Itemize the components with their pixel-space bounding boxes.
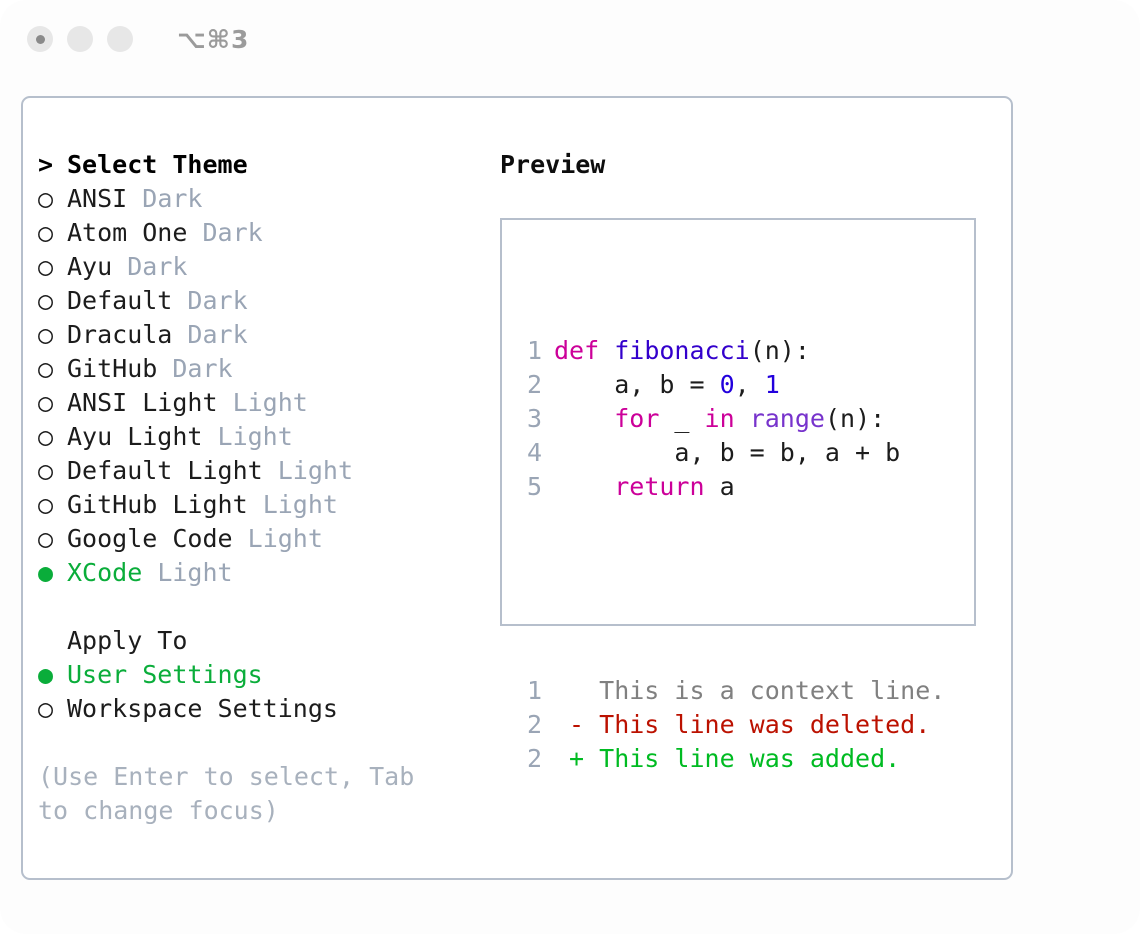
theme-list-item[interactable]: ○GitHub Dark <box>38 352 488 386</box>
diff-line-number: 1 <box>516 674 542 708</box>
code-token: a, b = <box>554 370 720 399</box>
theme-item-variant-tag: Light <box>263 490 338 519</box>
theme-item-variant-tag: Light <box>278 456 353 485</box>
theme-list-item[interactable]: ○GitHub Light Light <box>38 488 488 522</box>
radio-selected-icon: ● <box>38 658 67 692</box>
traffic-light-dot-1-inner <box>36 35 45 44</box>
diff-line-number: 2 <box>516 708 542 742</box>
code-lines: 1def fibonacci(n):2 a, b = 0, 13 for _ i… <box>516 334 945 504</box>
code-token: return <box>614 472 704 501</box>
diff-line-number: 2 <box>516 742 542 776</box>
theme-list-column: > Select Theme ○ANSI Dark○Atom One Dark○… <box>38 148 488 828</box>
theme-item-variant-tag: Dark <box>127 252 187 281</box>
theme-item-label: Dracula <box>67 320 172 349</box>
code-token: (n): <box>750 336 810 365</box>
theme-item-label: GitHub <box>67 354 157 383</box>
apply-to-heading: Apply To <box>38 624 488 658</box>
radio-unselected-icon: ○ <box>38 318 67 352</box>
code-line-number: 2 <box>516 368 542 402</box>
preview-box: 1def fibonacci(n):2 a, b = 0, 13 for _ i… <box>500 218 976 626</box>
code-diff-gap <box>516 572 945 606</box>
code-line: 5 return a <box>516 470 945 504</box>
theme-item-gap <box>142 558 157 587</box>
radio-unselected-icon: ○ <box>38 182 67 216</box>
code-line-number: 3 <box>516 402 542 436</box>
select-theme-heading-label: Select Theme <box>67 150 248 179</box>
theme-list-item[interactable]: ○Ayu Dark <box>38 250 488 284</box>
theme-item-variant-tag: Dark <box>187 286 247 315</box>
theme-item-label: ANSI Light <box>67 388 218 417</box>
code-token: 1 <box>765 370 780 399</box>
select-theme-heading: > Select Theme <box>38 148 488 182</box>
theme-item-variant-tag: Dark <box>172 354 232 383</box>
apply-to-item-label: Workspace Settings <box>67 694 338 723</box>
theme-list-item[interactable]: ○Default Dark <box>38 284 488 318</box>
theme-item-variant-tag: Light <box>218 422 293 451</box>
code-token: (n): <box>825 404 885 433</box>
code-token: a <box>705 472 735 501</box>
code-token: for <box>614 404 659 433</box>
code-token <box>554 472 614 501</box>
theme-item-gap <box>172 320 187 349</box>
theme-item-list: ○ANSI Dark○Atom One Dark○Ayu Dark○Defaul… <box>38 182 488 590</box>
code-token: a, b = b, a + b <box>554 438 900 467</box>
theme-list-item[interactable]: ○ANSI Light Light <box>38 386 488 420</box>
code-token: in <box>705 404 735 433</box>
theme-list-item[interactable]: ○Google Code Light <box>38 522 488 556</box>
theme-list-item[interactable]: ○Dracula Dark <box>38 318 488 352</box>
code-token: , <box>735 370 765 399</box>
code-line-number: 1 <box>516 334 542 368</box>
preview-column: Preview 1def fibonacci(n):2 a, b = 0, 13… <box>500 148 1000 626</box>
theme-item-label: Atom One <box>67 218 187 247</box>
theme-item-gap <box>157 354 172 383</box>
code-token: fibonacci <box>614 336 749 365</box>
theme-list-item[interactable]: ●XCode Light <box>38 556 488 590</box>
code-line-number: 5 <box>516 470 542 504</box>
code-line: 4 a, b = b, a + b <box>516 436 945 470</box>
radio-unselected-icon: ○ <box>38 250 67 284</box>
theme-item-variant-tag: Dark <box>187 320 247 349</box>
theme-item-variant-tag: Dark <box>142 184 202 213</box>
code-token <box>554 404 614 433</box>
theme-item-label: Ayu <box>67 252 112 281</box>
code-token: def <box>554 336 599 365</box>
diff-lines: 1 This is a context line.2 - This line w… <box>516 674 945 776</box>
theme-item-variant-tag: Light <box>157 558 232 587</box>
code-line-number: 4 <box>516 436 542 470</box>
theme-item-gap <box>187 218 202 247</box>
apply-to-heading-label: Apply To <box>67 626 187 655</box>
code-token: _ <box>659 404 704 433</box>
radio-selected-icon: ● <box>38 556 67 590</box>
title-bar: ⌥⌘3 <box>0 0 1140 78</box>
code-token: range <box>750 404 825 433</box>
theme-item-label: XCode <box>67 558 142 587</box>
radio-unselected-icon: ○ <box>38 420 67 454</box>
theme-item-label: Ayu Light <box>67 422 202 451</box>
theme-item-label: Default Light <box>67 456 263 485</box>
apply-to-item[interactable]: ●User Settings <box>38 658 488 692</box>
theme-item-label: GitHub Light <box>67 490 248 519</box>
theme-list-item[interactable]: ○Default Light Light <box>38 454 488 488</box>
keyboard-shortcut-label: ⌥⌘3 <box>177 25 249 54</box>
radio-unselected-icon: ○ <box>38 522 67 556</box>
radio-unselected-icon: ○ <box>38 216 67 250</box>
theme-item-gap <box>202 422 217 451</box>
apply-to-item[interactable]: ○Workspace Settings <box>38 692 488 726</box>
radio-unselected-icon: ○ <box>38 488 67 522</box>
diff-line: 1 This is a context line. <box>516 674 945 708</box>
panel-columns: > Select Theme ○ANSI Dark○Atom One Dark○… <box>23 98 1011 878</box>
radio-unselected-icon: ○ <box>38 692 67 726</box>
theme-item-gap <box>218 388 233 417</box>
section-spacer <box>38 590 488 624</box>
theme-item-label: Google Code <box>67 524 233 553</box>
code-token <box>735 404 750 433</box>
code-token <box>599 336 614 365</box>
theme-item-gap <box>127 184 142 213</box>
code-token: 0 <box>720 370 735 399</box>
radio-unselected-icon: ○ <box>38 284 67 318</box>
theme-item-gap <box>233 524 248 553</box>
traffic-light-dot-2[interactable] <box>67 26 93 52</box>
code-line: 2 a, b = 0, 1 <box>516 368 945 402</box>
code-line: 3 for _ in range(n): <box>516 402 945 436</box>
diff-line: 2 - This line was deleted. <box>516 708 945 742</box>
preview-title: Preview <box>500 148 1000 182</box>
preview-code: 1def fibonacci(n):2 a, b = 0, 13 for _ i… <box>516 266 945 844</box>
app-window: ⌥⌘3 > Select Theme ○ANSI Dark○Atom One D… <box>0 0 1140 934</box>
diff-line-text: - This line was deleted. <box>554 710 930 739</box>
theme-item-gap <box>248 490 263 519</box>
theme-picker-panel: > Select Theme ○ANSI Dark○Atom One Dark○… <box>21 96 1013 880</box>
traffic-light-dot-3[interactable] <box>107 26 133 52</box>
theme-item-label: ANSI <box>67 184 127 213</box>
code-line: 1def fibonacci(n): <box>516 334 945 368</box>
diff-line-text: This is a context line. <box>554 676 945 705</box>
keyboard-hint-text: (Use Enter to select, Tab to change focu… <box>38 760 443 828</box>
apply-to-indent <box>38 624 67 658</box>
theme-item-label: Default <box>67 286 172 315</box>
prompt-caret-icon: > <box>38 148 67 182</box>
diff-line-text: + This line was added. <box>554 744 900 773</box>
radio-unselected-icon: ○ <box>38 352 67 386</box>
apply-to-item-label: User Settings <box>67 660 263 689</box>
radio-unselected-icon: ○ <box>38 454 67 488</box>
theme-list-item[interactable]: ○ANSI Dark <box>38 182 488 216</box>
traffic-light-dot-1[interactable] <box>27 26 53 52</box>
theme-item-gap <box>172 286 187 315</box>
theme-list-item[interactable]: ○Atom One Dark <box>38 216 488 250</box>
theme-item-variant-tag: Dark <box>202 218 262 247</box>
theme-item-variant-tag: Light <box>248 524 323 553</box>
radio-unselected-icon: ○ <box>38 386 67 420</box>
theme-list-item[interactable]: ○Ayu Light Light <box>38 420 488 454</box>
apply-to-list: ●User Settings○Workspace Settings <box>38 658 488 726</box>
diff-line: 2 + This line was added. <box>516 742 945 776</box>
theme-item-gap <box>263 456 278 485</box>
theme-item-gap <box>112 252 127 281</box>
theme-item-variant-tag: Light <box>233 388 308 417</box>
hint-spacer <box>38 726 488 760</box>
